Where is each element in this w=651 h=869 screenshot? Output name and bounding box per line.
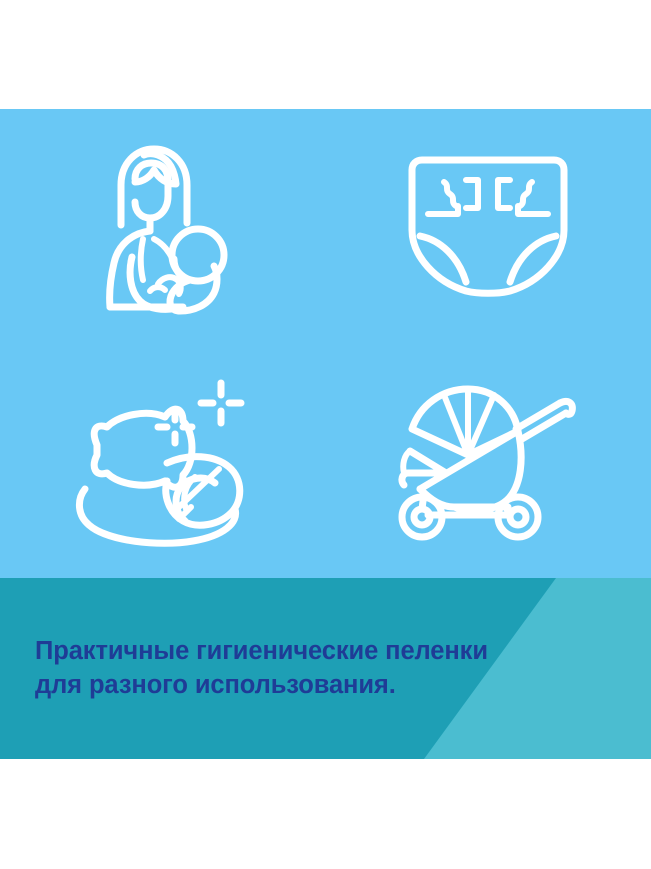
icon-cell-mother-baby bbox=[0, 109, 326, 344]
headline-banner: Практичные гигиенические пеленки для раз… bbox=[0, 578, 651, 759]
icon-cell-stroller bbox=[326, 344, 651, 579]
icon-cell-pillow-blanket bbox=[0, 344, 326, 579]
product-feature-card: Практичные гигиенические пеленки для раз… bbox=[0, 0, 651, 869]
pillow-and-rolled-blanket-icon bbox=[63, 371, 263, 551]
diaper-icon bbox=[400, 152, 576, 300]
icon-cell-diaper bbox=[326, 109, 651, 344]
headline-text: Практичные гигиенические пеленки для раз… bbox=[35, 634, 488, 702]
baby-stroller-icon bbox=[398, 381, 578, 541]
icon-panel bbox=[0, 109, 651, 578]
mother-breastfeeding-baby-icon bbox=[88, 139, 238, 314]
sparkle-icon bbox=[201, 383, 241, 423]
icon-grid bbox=[0, 109, 651, 578]
